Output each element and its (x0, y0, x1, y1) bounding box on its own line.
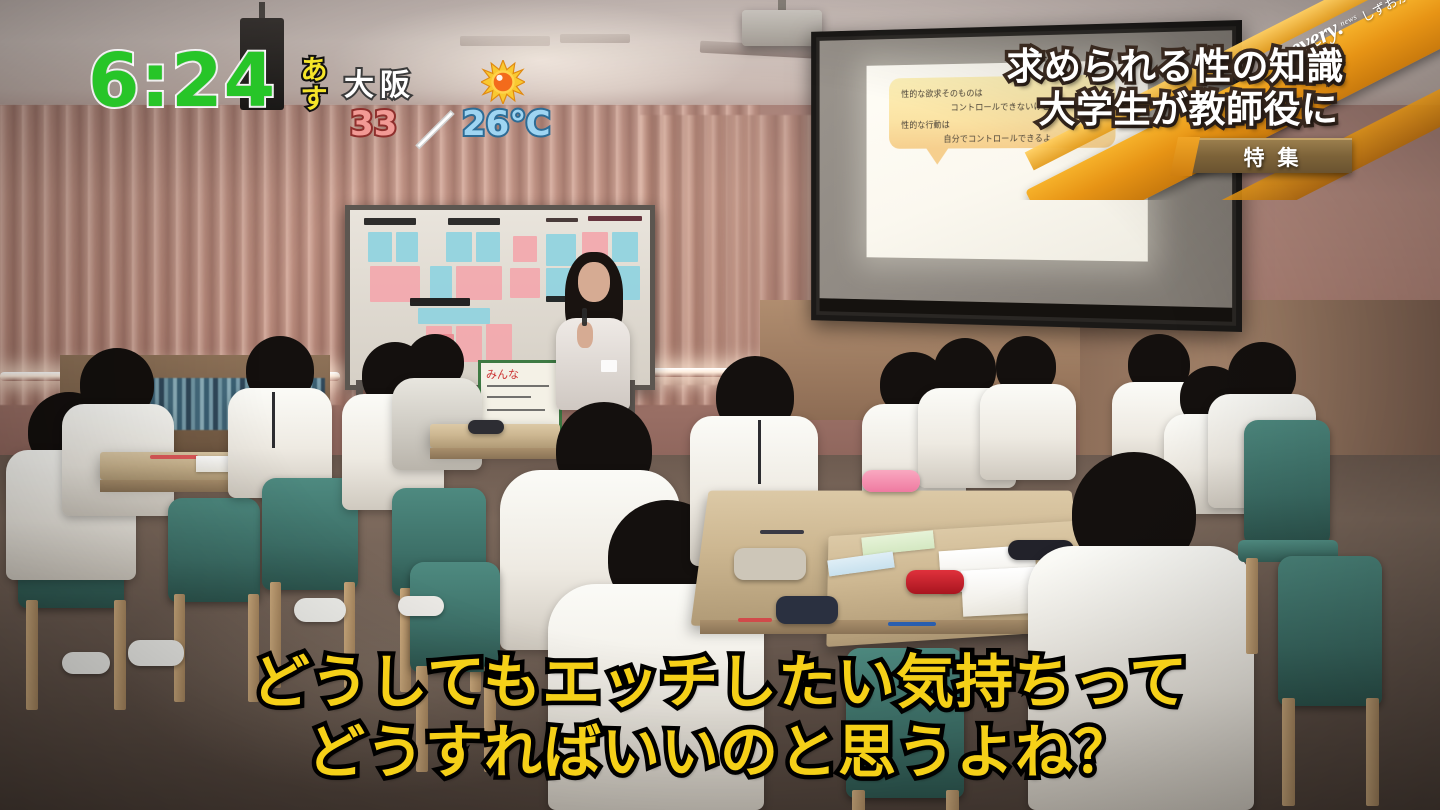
video-frame: 性的な欲求そのものは コントロールできないけど 性的な行動は 自分でコントロール… (0, 0, 1440, 810)
broadcast-screenshot: 性的な欲求そのものは コントロールできないけど 性的な行動は 自分でコントロール… (0, 0, 1440, 810)
vignette (0, 0, 1440, 810)
